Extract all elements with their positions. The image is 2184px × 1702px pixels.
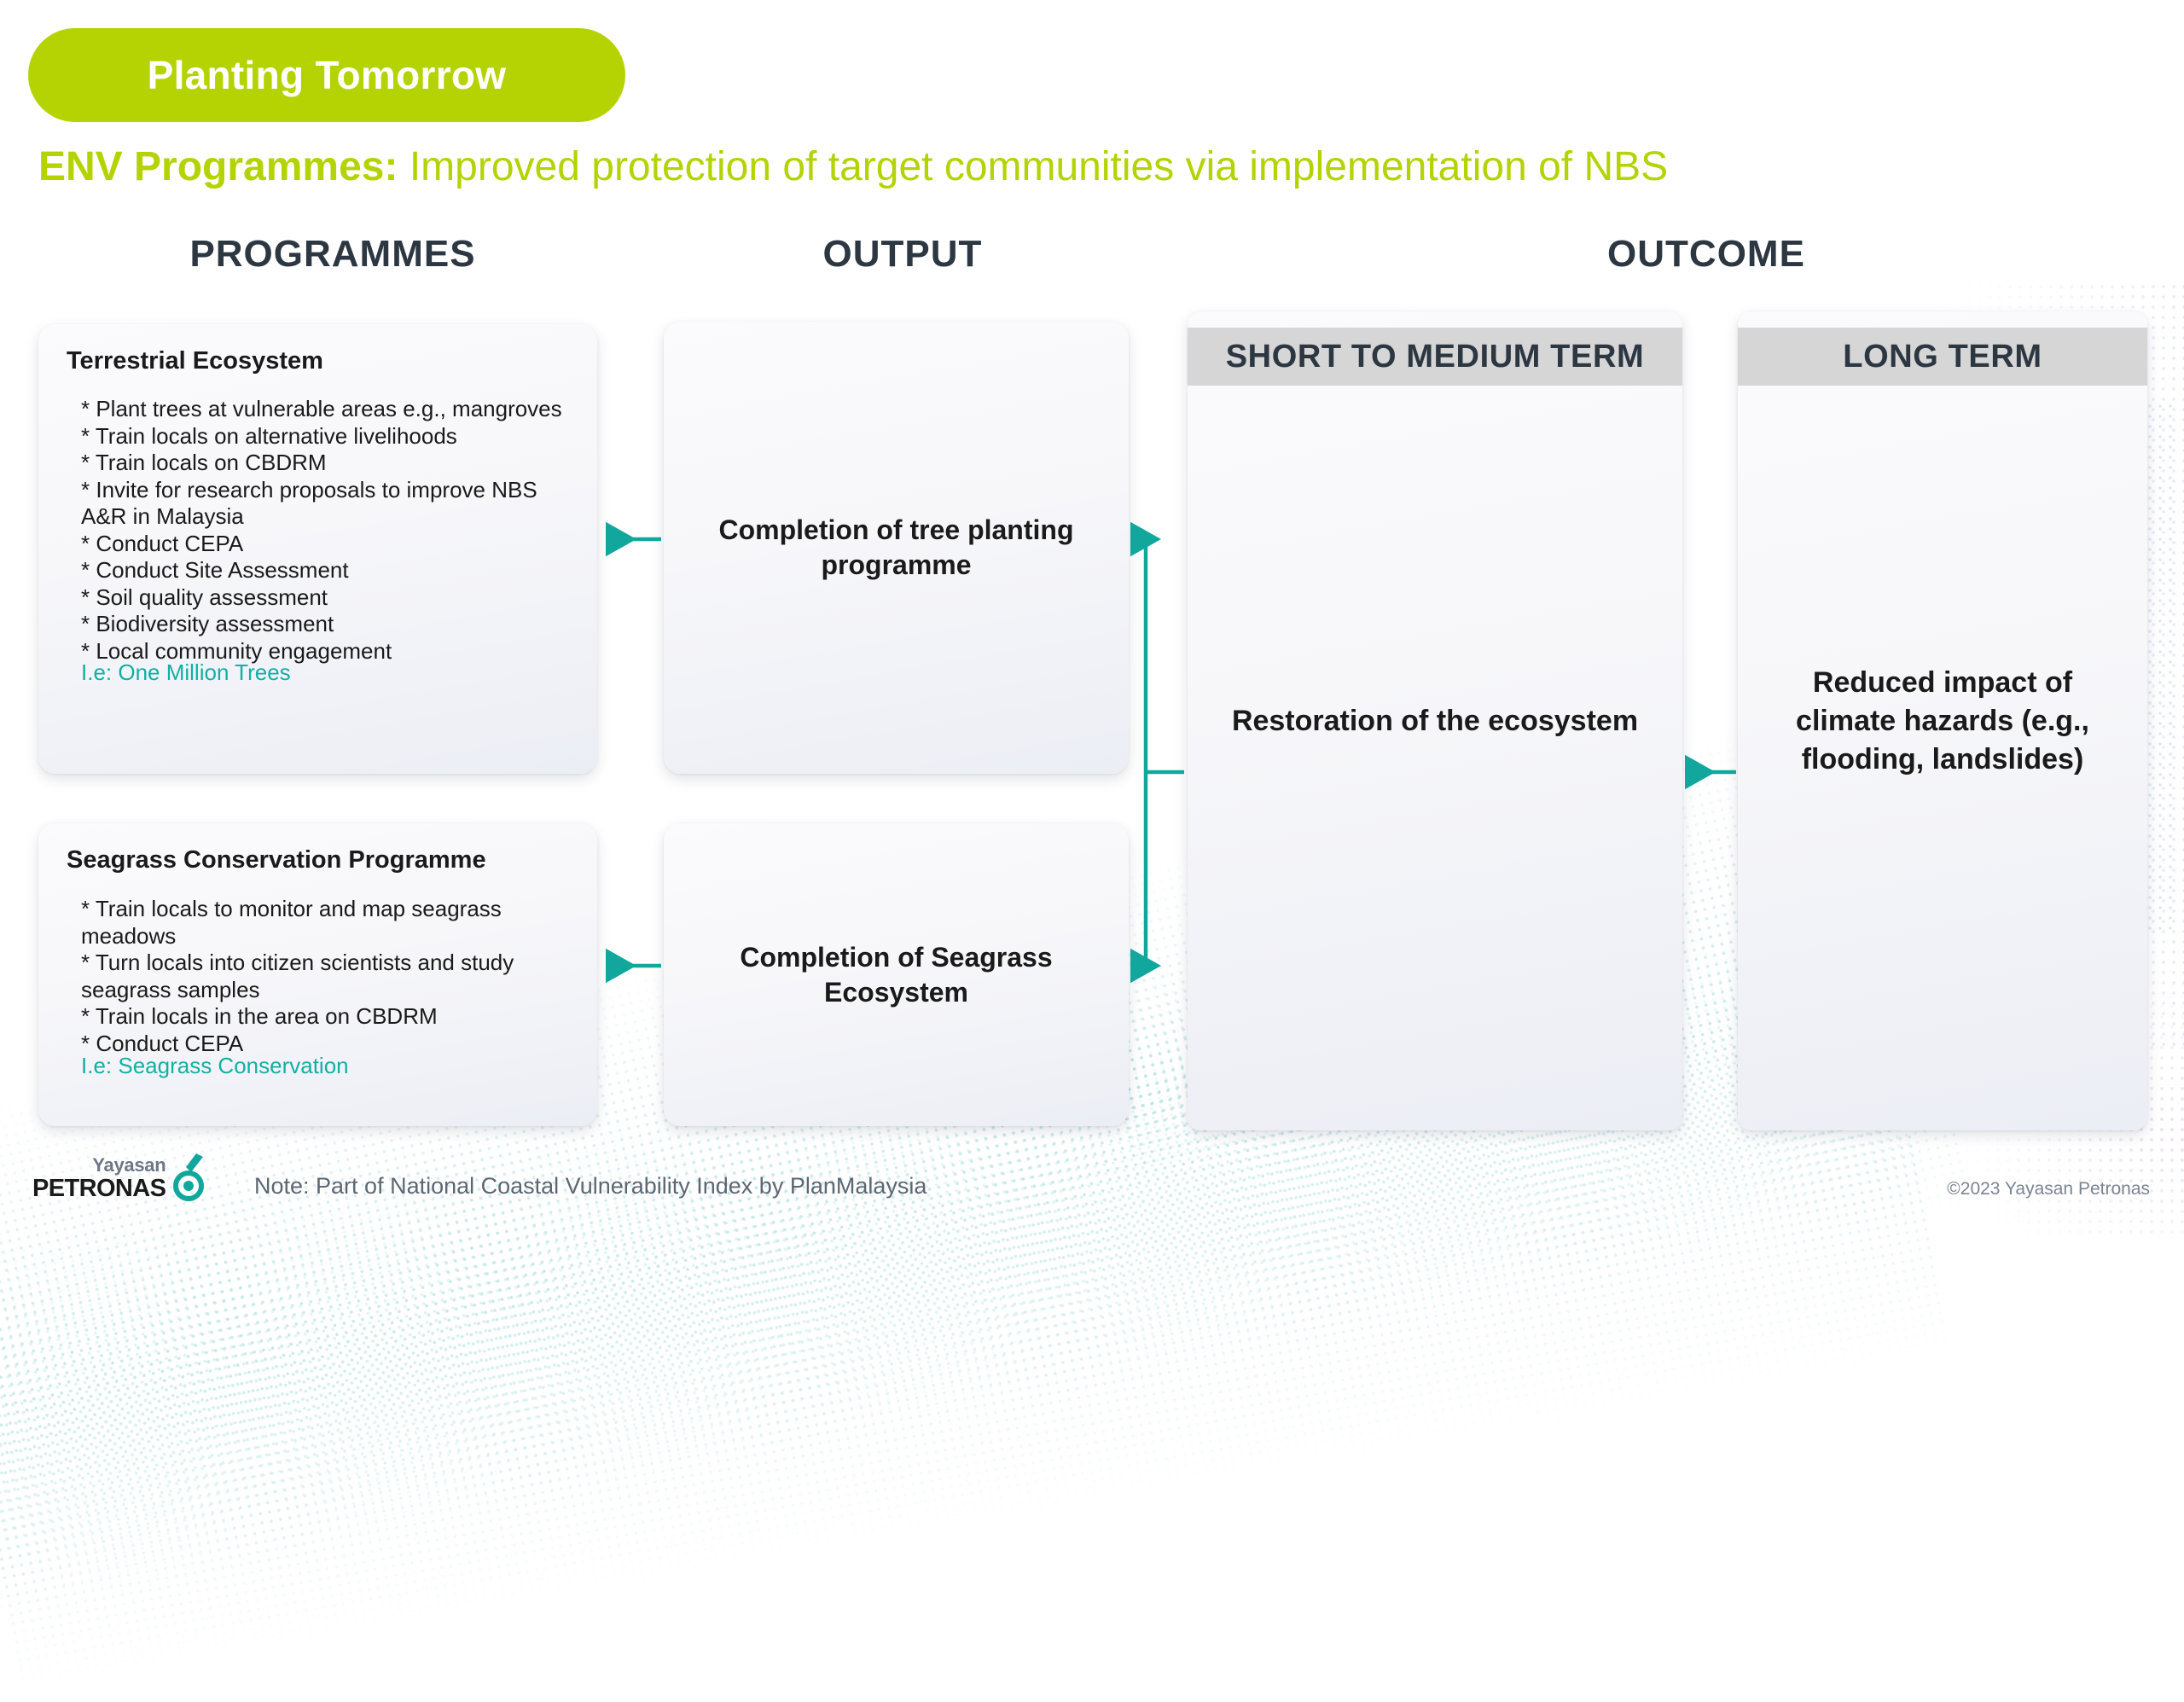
programme-bullet-list: * Train locals to monitor and map seagra… <box>81 896 580 1057</box>
outcome-card-text: Restoration of the ecosystem <box>1232 702 1638 741</box>
slide-title-text: Planting Tomorrow <box>148 52 507 98</box>
outcome-card-short-to-medium[interactable]: Restoration of the ecosystem <box>1188 311 1682 1130</box>
list-item: * Train locals to monitor and map seagra… <box>81 896 580 950</box>
programme-example-label: I.e: One Million Trees <box>81 659 291 686</box>
list-item: * Conduct Site Assessment <box>81 557 580 584</box>
outcome-card-text: Reduced impact of climate hazards (e.g.,… <box>1769 664 2117 779</box>
outcome-card-long-term[interactable]: Reduced impact of climate hazards (e.g.,… <box>1738 311 2147 1130</box>
logo-petronas-text: PETRONAS <box>32 1176 166 1201</box>
programme-example-label: I.e: Seagrass Conservation <box>81 1053 349 1079</box>
programme-bullet-list: * Plant trees at vulnerable areas e.g., … <box>81 396 580 665</box>
list-item: * Biodiversity assessment <box>81 611 580 638</box>
subtitle-rest: Improved protection of target communitie… <box>398 144 1668 189</box>
logo-wordmark: Yayasan PETRONAS <box>32 1156 166 1201</box>
list-item: * Turn locals into citizen scientists an… <box>81 950 580 1003</box>
output-card-text: Completion of tree planting programme <box>698 513 1095 583</box>
column-header-outcome: OUTCOME <box>1607 233 1805 276</box>
petronas-droplet-icon <box>171 1152 206 1201</box>
subtitle-strong: ENV Programmes: <box>38 144 398 189</box>
logo-yayasan-text: Yayasan <box>92 1156 166 1175</box>
footer-note-text: Note: Part of National Coastal Vulnerabi… <box>254 1173 926 1200</box>
outcome-header-long-term: LONG TERM <box>1738 328 2147 386</box>
output-card-text: Completion of Seagrass Ecosystem <box>698 940 1095 1010</box>
column-header-programmes: PROGRAMMES <box>189 233 475 276</box>
list-item: * Train locals on alternative livelihood… <box>81 423 580 450</box>
yayasan-petronas-logo: Yayasan PETRONAS <box>32 1152 206 1201</box>
list-item: * Invite for research proposals to impro… <box>81 477 580 531</box>
output-card-seagrass-ecosystem[interactable]: Completion of Seagrass Ecosystem <box>664 823 1129 1126</box>
programme-card-title: Seagrass Conservation Programme <box>67 846 486 874</box>
list-item: * Plant trees at vulnerable areas e.g., … <box>81 396 580 423</box>
list-item: * Train locals in the area on CBDRM <box>81 1003 580 1031</box>
output-card-tree-planting[interactable]: Completion of tree planting programme <box>664 322 1129 774</box>
list-item: * Soil quality assessment <box>81 584 580 612</box>
slide-title-pill: Planting Tomorrow <box>28 28 625 122</box>
programme-card-seagrass[interactable]: Seagrass Conservation Programme * Train … <box>38 823 597 1126</box>
footer-copyright-text: ©2023 Yayasan Petronas <box>1947 1179 2150 1200</box>
slide-subtitle: ENV Programmes: Improved protection of t… <box>38 143 1668 190</box>
programme-card-title: Terrestrial Ecosystem <box>67 347 323 375</box>
outcome-header-short-to-medium: SHORT TO MEDIUM TERM <box>1188 328 1682 386</box>
list-item: * Conduct CEPA <box>81 531 580 558</box>
list-item: * Train locals on CBDRM <box>81 450 580 477</box>
programme-card-terrestrial[interactable]: Terrestrial Ecosystem * Plant trees at v… <box>38 324 597 774</box>
column-header-output: OUTPUT <box>823 233 983 276</box>
